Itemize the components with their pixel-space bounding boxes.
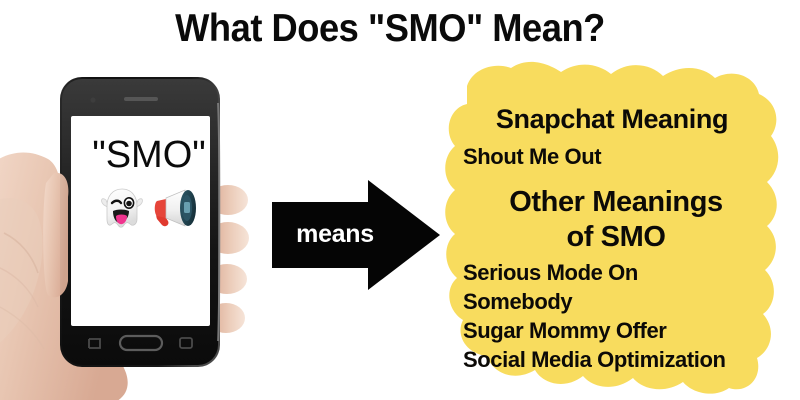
- list-item: Serious Mode On: [463, 258, 785, 287]
- list-item: Social Media Optimization: [463, 345, 785, 374]
- means-arrow: means: [268, 174, 448, 296]
- front-camera: [90, 97, 95, 102]
- list-item: Sugar Mommy Offer: [463, 316, 785, 345]
- other-meanings-heading-line1: Other Meanings: [453, 185, 779, 220]
- hand-holding-phone-illustration: [0, 55, 280, 400]
- smartphone: [60, 77, 220, 367]
- snapchat-meaning-heading: Snapchat Meaning: [445, 103, 779, 135]
- arrow-label: means: [286, 220, 384, 248]
- panel-text-block: Snapchat Meaning Shout Me Out Other Mean…: [437, 52, 789, 396]
- other-meanings-list: Serious Mode On Somebody Sugar Mommy Off…: [463, 258, 785, 374]
- meanings-panel: Snapchat Meaning Shout Me Out Other Mean…: [437, 52, 789, 396]
- earpiece-speaker: [124, 97, 158, 101]
- infographic-canvas: What Does "SMO" Mean?: [0, 0, 800, 400]
- other-meanings-heading: Other Meanings of SMO: [453, 185, 779, 255]
- list-item: Somebody: [463, 287, 785, 316]
- page-title: What Does "SMO" Mean?: [27, 6, 752, 52]
- other-meanings-heading-line2: of SMO: [453, 220, 779, 255]
- snapchat-meaning-value: Shout Me Out: [463, 143, 783, 171]
